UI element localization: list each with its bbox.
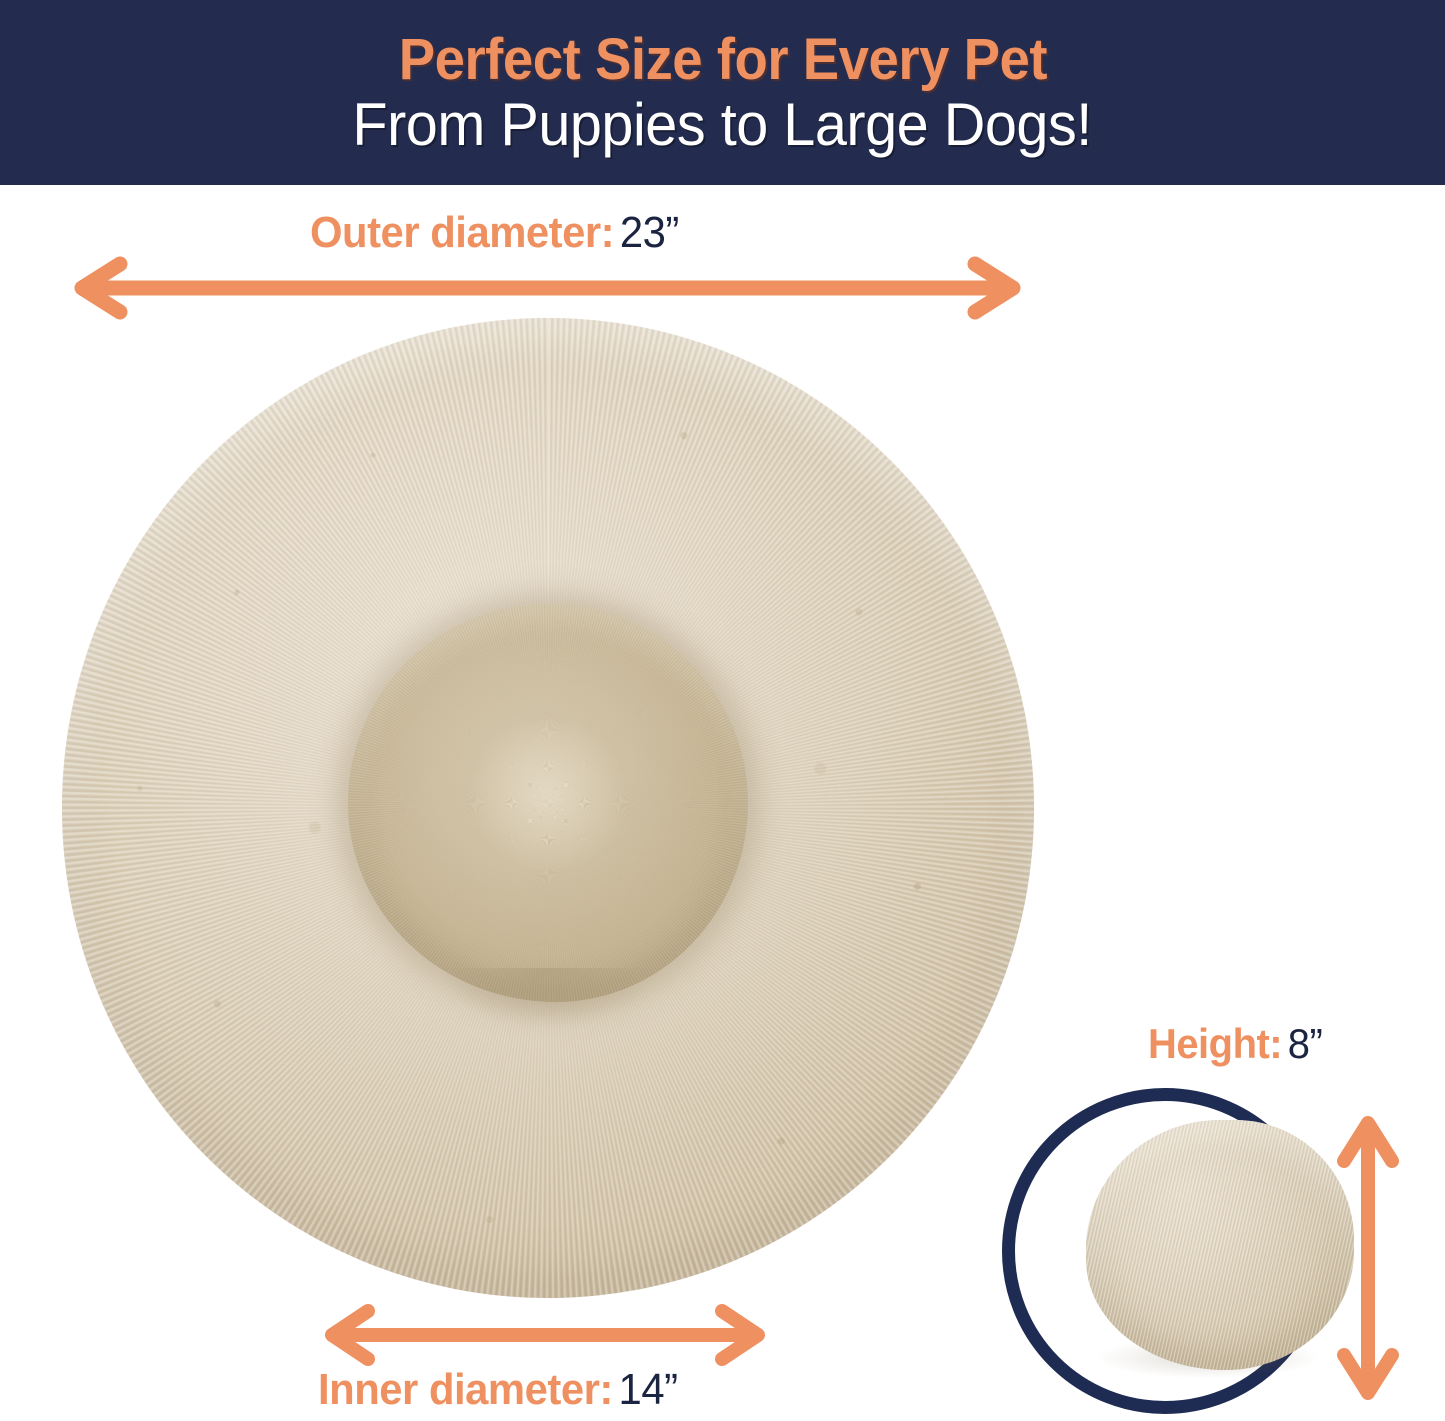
pet-bed-side-view <box>1086 1120 1354 1370</box>
inner-diameter-arrow-icon <box>312 1305 778 1365</box>
bed-outer-bolster <box>62 318 1034 1298</box>
pet-bed-side-view-inset <box>1002 1088 1328 1414</box>
height-label-text: Height: <box>1148 1020 1282 1067</box>
height-label: Height:8” <box>1148 1020 1322 1068</box>
header-banner: Perfect Size for Every Pet From Puppies … <box>0 0 1445 185</box>
subheadline: From Puppies to Large Dogs! <box>353 95 1092 155</box>
pet-bed-top-view <box>62 318 1034 1298</box>
outer-diameter-label-text: Outer diameter: <box>310 208 614 257</box>
inner-diameter-label: Inner diameter:14” <box>318 1365 678 1415</box>
outer-diameter-value: 23” <box>620 208 679 257</box>
bed-cushion-seam <box>443 968 653 1028</box>
header-banner-text-group: Perfect Size for Every Pet From Puppies … <box>0 0 1445 185</box>
inner-diameter-label-text: Inner diameter: <box>318 1365 613 1414</box>
bed-inner-cushion <box>348 604 748 1002</box>
outer-diameter-label: Outer diameter:23” <box>310 208 679 258</box>
height-value: 8” <box>1288 1020 1323 1067</box>
infographic-page: Perfect Size for Every Pet From Puppies … <box>0 0 1445 1421</box>
headline: Perfect Size for Every Pet <box>398 31 1046 89</box>
side-view-fur-strands <box>1086 1120 1354 1370</box>
bed-center-highlight <box>463 720 633 870</box>
outer-diameter-arrow-icon <box>60 258 1035 318</box>
inner-diameter-value: 14” <box>619 1365 678 1414</box>
